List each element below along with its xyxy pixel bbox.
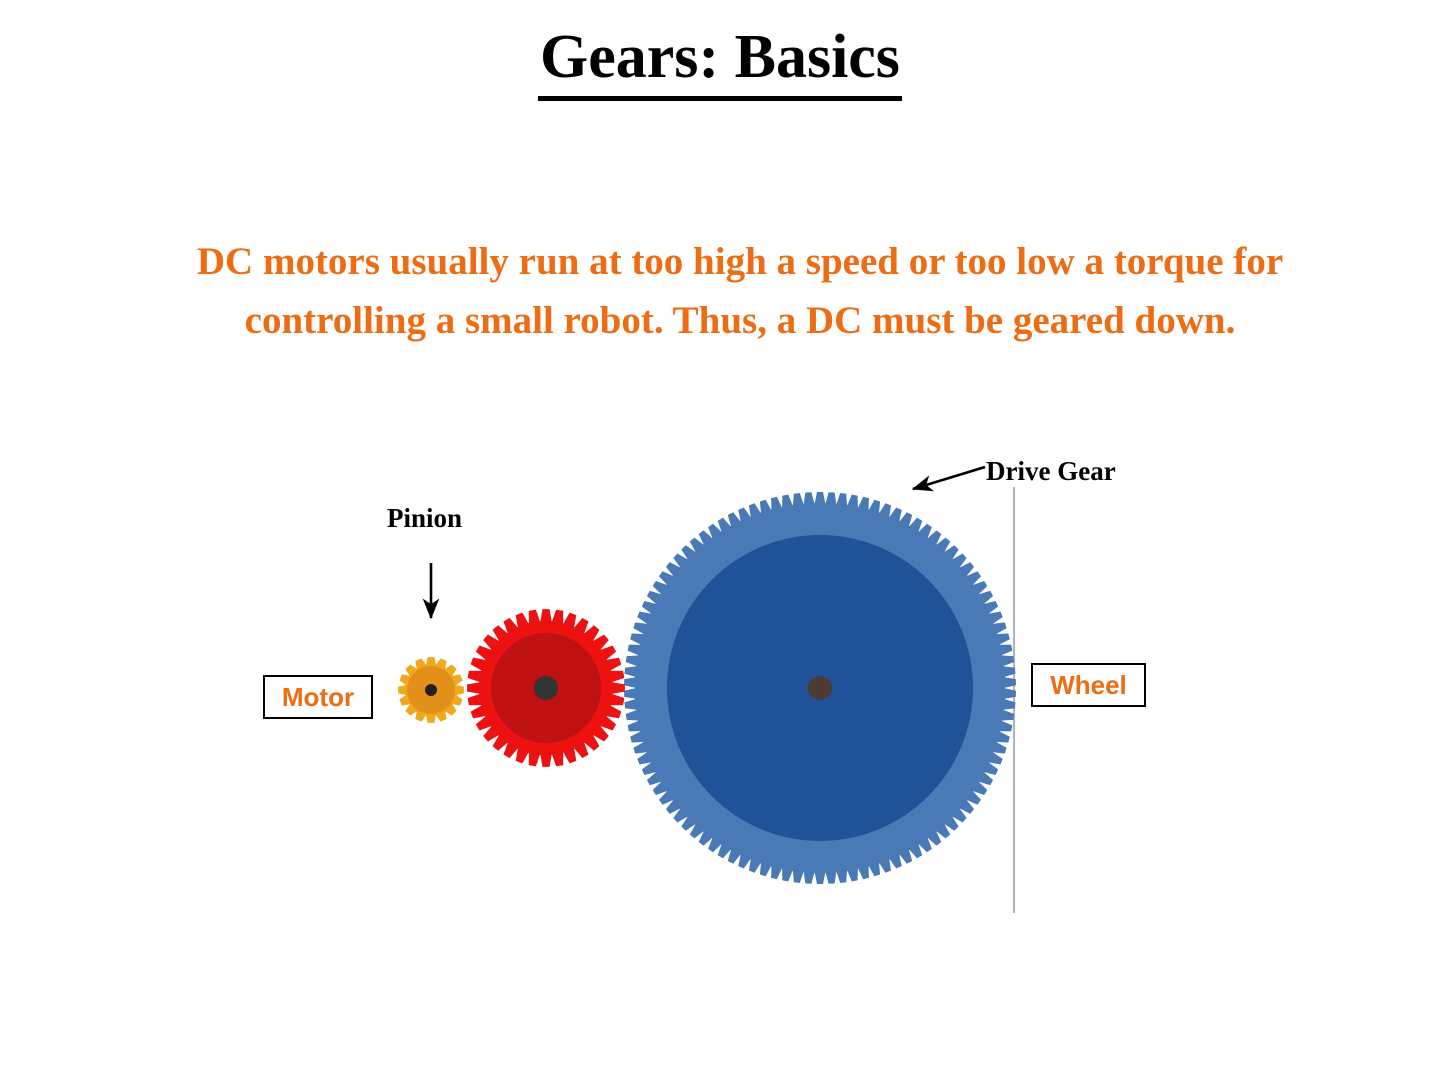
drive-gear-arrow bbox=[913, 467, 985, 489]
pinion-gear-hub bbox=[425, 684, 437, 696]
red-gear bbox=[467, 609, 625, 767]
drive-gear-label: Drive Gear bbox=[986, 456, 1116, 487]
slide-canvas: Gears: Basics DC motors usually run at t… bbox=[0, 0, 1440, 1080]
drive-gear bbox=[624, 492, 1016, 884]
pinion-label: Pinion bbox=[387, 503, 462, 534]
drive-gear-hub bbox=[808, 676, 832, 700]
pinion-gear bbox=[398, 657, 464, 723]
motor-label-box: Motor bbox=[263, 675, 373, 719]
red-gear-hub bbox=[534, 676, 558, 700]
wheel-label-box: Wheel bbox=[1031, 663, 1146, 707]
gear-train-diagram bbox=[0, 0, 1440, 1080]
